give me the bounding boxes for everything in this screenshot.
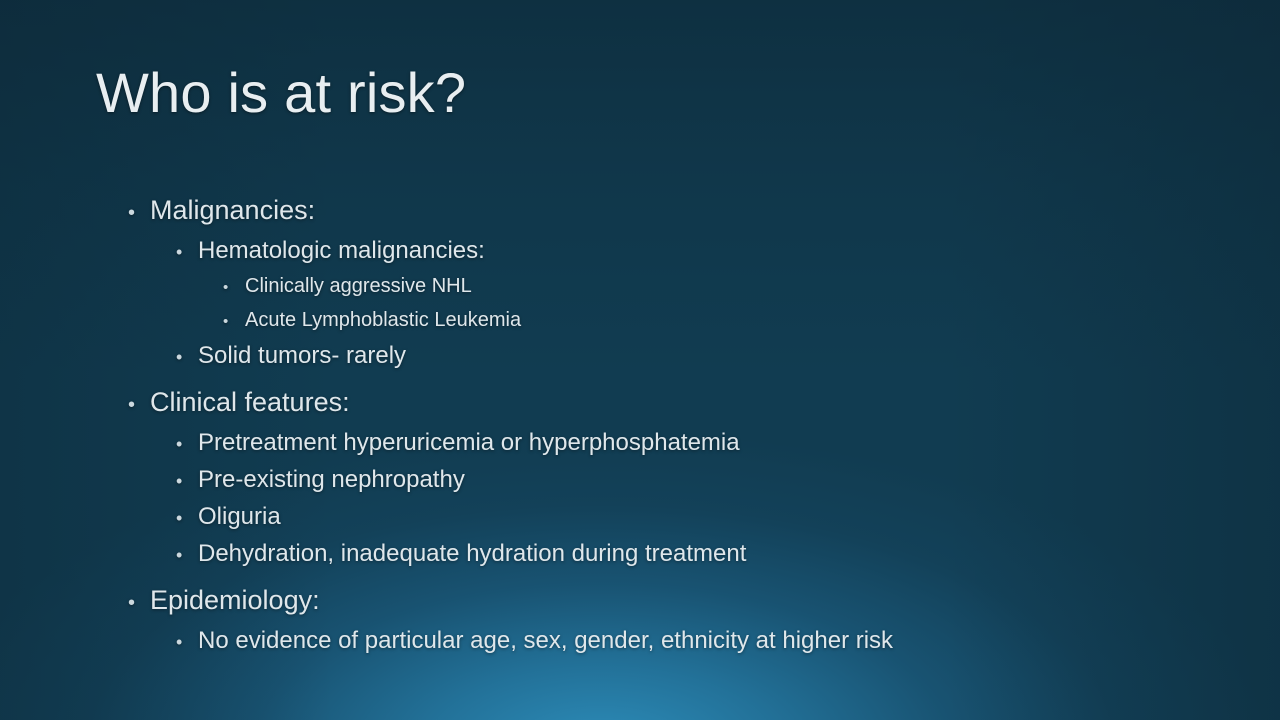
- bullet-point-icon: •: [128, 385, 150, 425]
- bullet-point-icon: •: [176, 426, 198, 462]
- bullet-point-icon: •: [223, 306, 245, 338]
- bullet-text: Pre-existing nephropathy: [198, 462, 465, 498]
- bullet-level1-heading: •Clinical features:: [0, 382, 1280, 425]
- bullet-text: Oliguria: [198, 499, 281, 535]
- bullet-text: Malignancies:: [150, 190, 315, 230]
- bullet-text: No evidence of particular age, sex, gend…: [198, 623, 893, 659]
- bullet-text: Hematologic malignancies:: [198, 233, 485, 269]
- slide-title: Who is at risk?: [96, 62, 466, 124]
- bullet-text: Dehydration, inadequate hydration during…: [198, 536, 746, 572]
- slide-body-list: •Malignancies:•Hematologic malignancies:…: [0, 190, 1280, 660]
- bullet-point-icon: •: [176, 234, 198, 270]
- bullet-point-icon: •: [176, 339, 198, 375]
- bullet-point-icon: •: [176, 500, 198, 536]
- bullet-level2-item: •Hematologic malignancies:: [0, 233, 1280, 270]
- bullet-point-icon: •: [176, 624, 198, 660]
- presentation-slide: Who is at risk? •Malignancies:•Hematolog…: [0, 0, 1280, 720]
- bullet-text: Solid tumors- rarely: [198, 338, 406, 374]
- bullet-point-icon: •: [128, 583, 150, 623]
- bullet-text: Epidemiology:: [150, 580, 320, 620]
- bullet-level1-heading: •Epidemiology:: [0, 580, 1280, 623]
- bullet-text: Acute Lymphoblastic Leukemia: [245, 304, 521, 336]
- bullet-point-icon: •: [223, 272, 245, 304]
- bullet-level2-item: •Solid tumors- rarely: [0, 338, 1280, 375]
- bullet-text: Clinical features:: [150, 382, 350, 422]
- bullet-level2-item: •Oliguria: [0, 499, 1280, 536]
- bullet-level2-item: •Dehydration, inadequate hydration durin…: [0, 536, 1280, 573]
- bullet-point-icon: •: [128, 193, 150, 233]
- bullet-text: Pretreatment hyperuricemia or hyperphosp…: [198, 425, 740, 461]
- bullet-level2-item: •Pretreatment hyperuricemia or hyperphos…: [0, 425, 1280, 462]
- bullet-level3-item: •Acute Lymphoblastic Leukemia: [0, 304, 1280, 338]
- bullet-point-icon: •: [176, 537, 198, 573]
- bullet-point-icon: •: [176, 463, 198, 499]
- bullet-text: Clinically aggressive NHL: [245, 270, 472, 302]
- bullet-level1-heading: •Malignancies:: [0, 190, 1280, 233]
- bullet-level3-item: •Clinically aggressive NHL: [0, 270, 1280, 304]
- bullet-level2-item: •No evidence of particular age, sex, gen…: [0, 623, 1280, 660]
- bullet-level2-item: •Pre-existing nephropathy: [0, 462, 1280, 499]
- slide-content: Who is at risk? •Malignancies:•Hematolog…: [0, 0, 1280, 720]
